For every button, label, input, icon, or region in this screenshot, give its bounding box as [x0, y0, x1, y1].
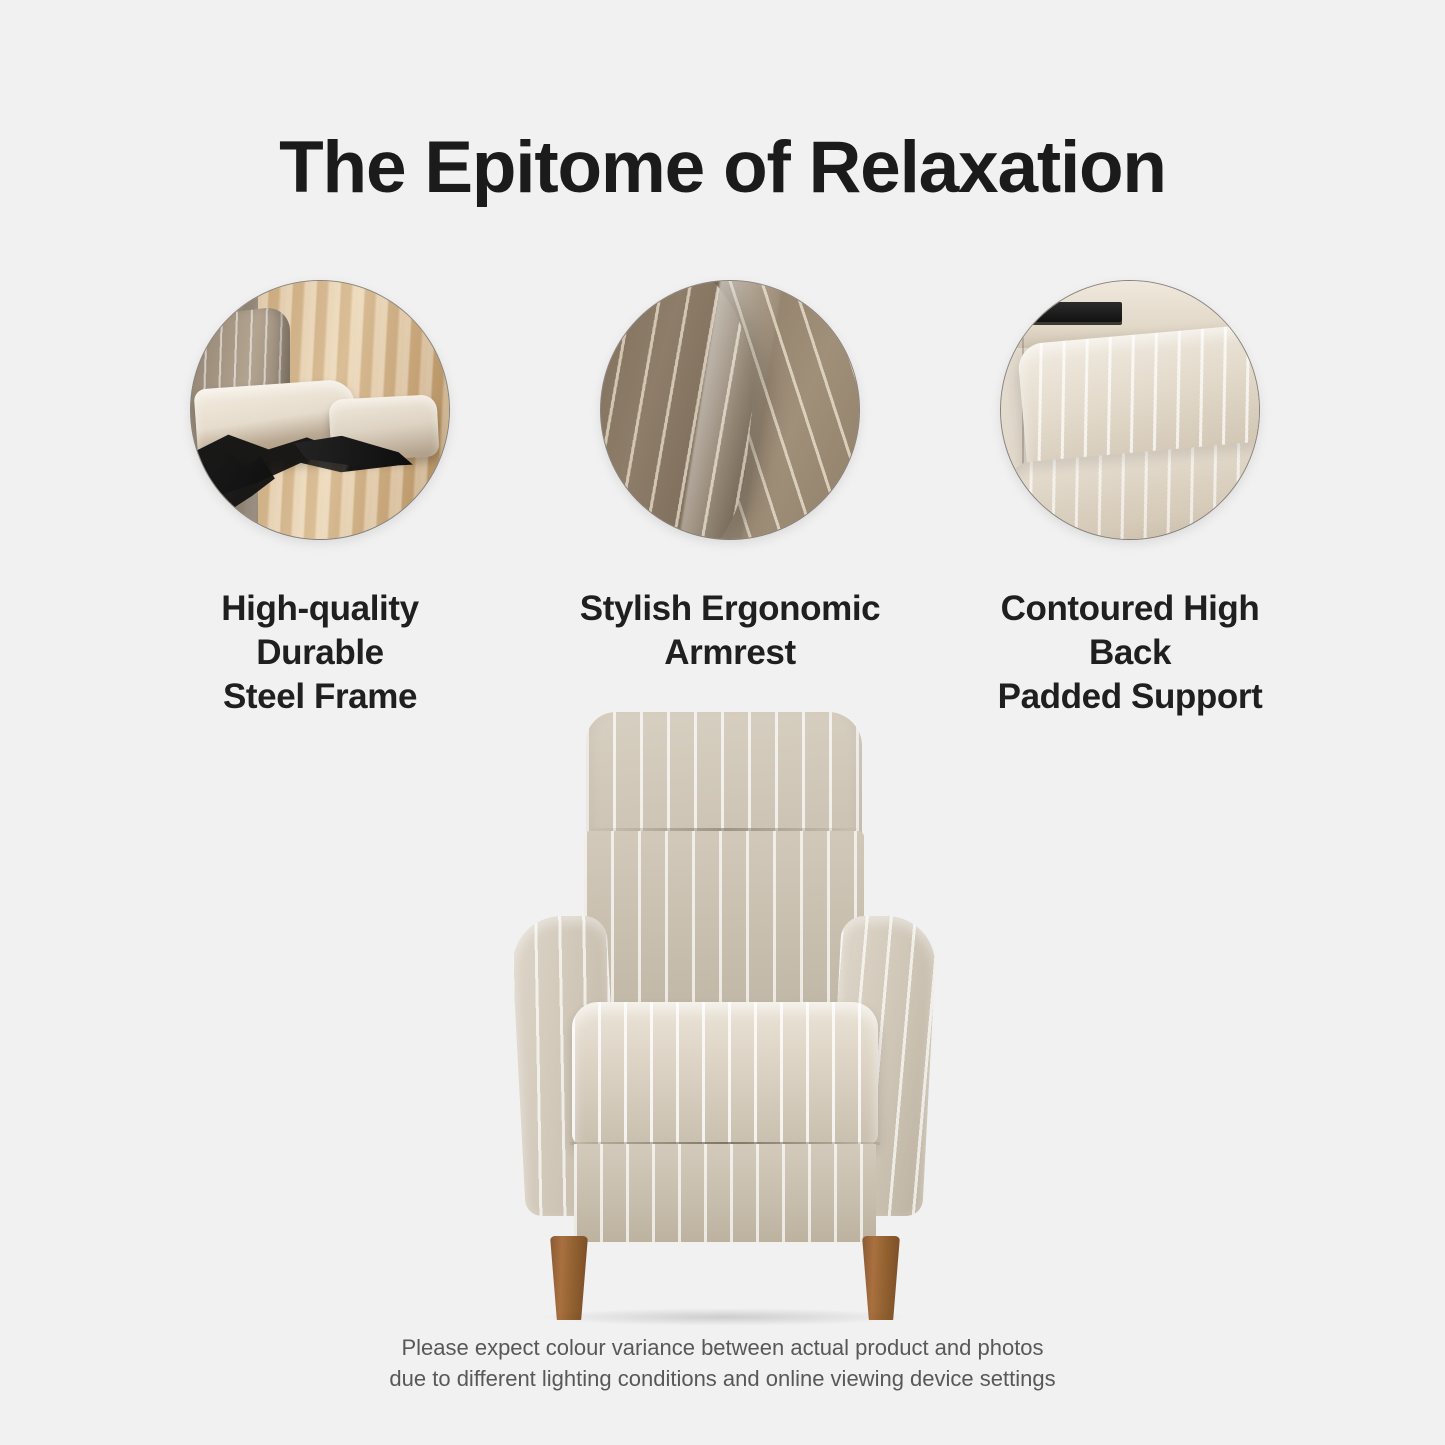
page-title: The Epitome of Relaxation — [0, 131, 1445, 204]
floor-shadow — [538, 1308, 910, 1326]
footrest-steel-frame-closeup-image — [191, 281, 449, 539]
chair-seat-cushion — [572, 1002, 878, 1146]
circle-image-content — [601, 281, 859, 539]
feature-label: Contoured High Back Padded Support — [965, 587, 1295, 719]
headrest-seam — [590, 828, 858, 831]
feature-item-steel-frame: High-quality Durable Steel Frame — [155, 281, 485, 719]
pushback-recliner-armchair-image — [498, 712, 950, 1312]
chair-base — [574, 1144, 876, 1242]
feature-item-armrest: Stylish Ergonomic Armrest — [565, 281, 895, 675]
feature-label: Stylish Ergonomic Armrest — [565, 587, 895, 675]
chair-back-lower — [584, 831, 864, 1031]
high-back-closeup-image — [1001, 281, 1259, 539]
colour-variance-disclaimer: Please expect colour variance between ac… — [0, 1332, 1445, 1394]
circle-image-content — [1001, 281, 1259, 539]
armrest-closeup-image — [601, 281, 859, 539]
feature-row: High-quality Durable Steel Frame Stylish… — [0, 281, 1445, 691]
feature-item-high-back: Contoured High Back Padded Support — [965, 281, 1295, 719]
feature-label: High-quality Durable Steel Frame — [155, 587, 485, 719]
books-on-shelf — [1024, 302, 1122, 323]
circle-image-content — [191, 281, 449, 539]
product-feature-infographic: The Epitome of Relaxation High-quality D… — [0, 0, 1445, 1445]
